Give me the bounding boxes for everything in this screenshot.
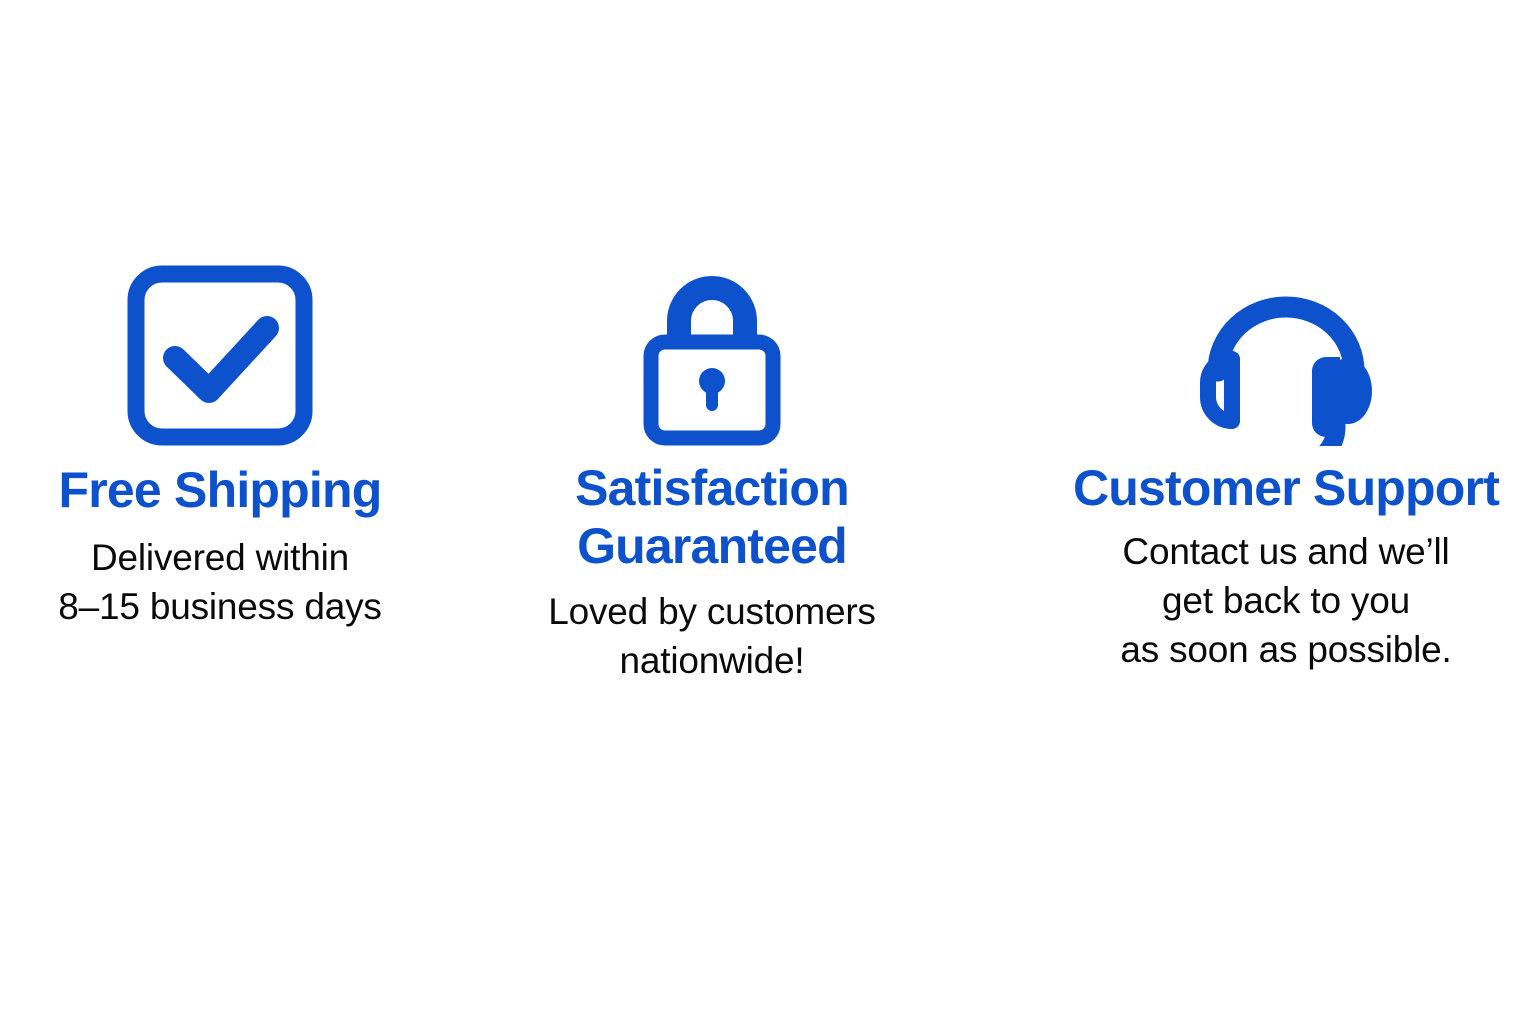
badge-description: Loved by customers nationwide! <box>548 575 876 685</box>
headset-support-icon <box>1188 265 1384 455</box>
badge-description: Contact us and we’ll get back to you as … <box>1120 517 1451 675</box>
badge-free-shipping: Free Shipping Delivered within 8–15 busi… <box>0 265 440 631</box>
badge-title: Free Shipping <box>55 461 386 519</box>
badge-customer-support: Customer Support Contact us and we’ll ge… <box>1060 265 1512 675</box>
checkbox-check-icon <box>127 265 313 455</box>
badge-description: Delivered within 8–15 business days <box>58 519 381 631</box>
badge-title: Satisfaction Guaranteed <box>492 459 932 575</box>
badge-satisfaction-guaranteed: Satisfaction Guaranteed Loved by custome… <box>492 265 932 685</box>
trust-badge-strip: Free Shipping Delivered within 8–15 busi… <box>0 0 1536 1024</box>
badge-title: Customer Support <box>1069 459 1503 517</box>
padlock-icon <box>637 265 787 455</box>
